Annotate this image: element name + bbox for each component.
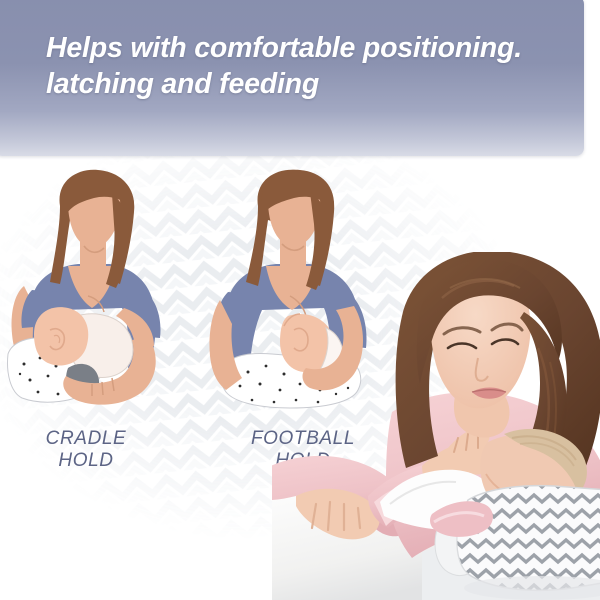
product-feature-image: Helps with comfortable positioning. latc… — [0, 0, 600, 600]
label-cradle-hold: CRADLE HOLD — [6, 428, 166, 472]
headline-banner: Helps with comfortable positioning. latc… — [0, 0, 584, 156]
headline-text: Helps with comfortable positioning. latc… — [46, 30, 566, 102]
illustration-cradle-hold — [6, 168, 174, 430]
lifestyle-photo-mother-nursing — [272, 252, 600, 600]
